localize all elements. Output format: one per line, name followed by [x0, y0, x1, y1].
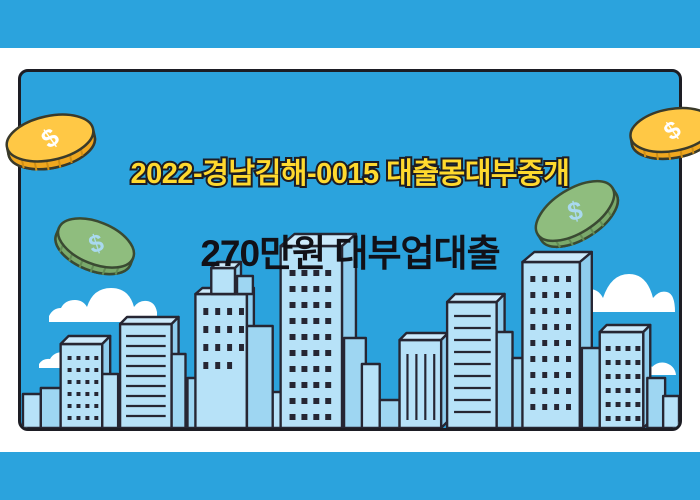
coin-gold-left-icon: $ — [0, 100, 102, 176]
top-color-band — [0, 0, 700, 48]
coin-green-right-icon: $ — [523, 168, 627, 254]
poster-canvas: 2022-경남김해-0015 대출몽대부중개 270만원 대부업대출 $ — [0, 0, 700, 500]
coin-green-left-icon: $ — [48, 203, 144, 283]
bottom-color-band — [0, 452, 700, 500]
coin-gold-right-icon: $ — [622, 92, 700, 168]
